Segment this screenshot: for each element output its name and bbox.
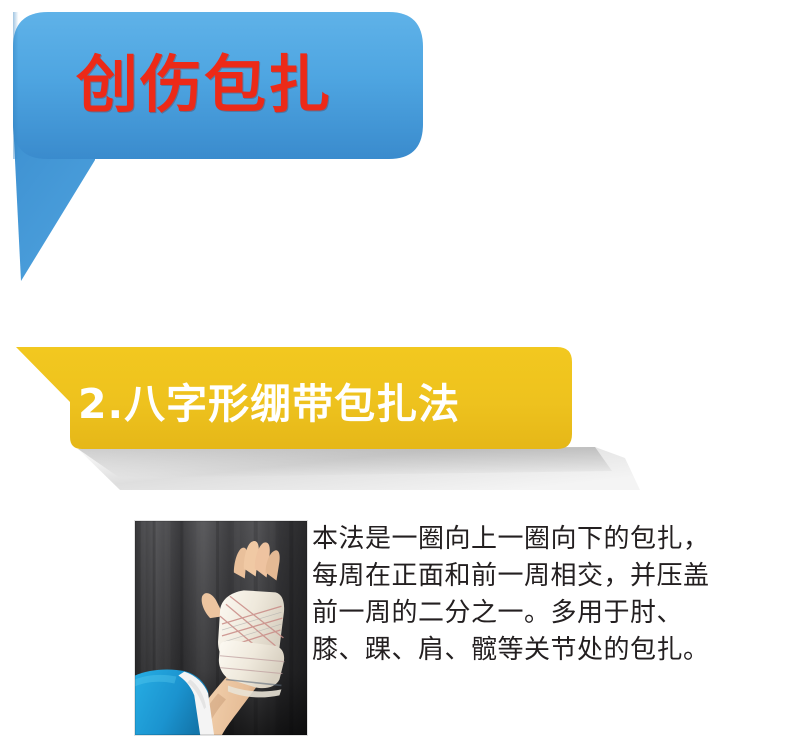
description-line-1: 本法是一圈向上一圈向下的包扎， bbox=[312, 521, 792, 558]
description-line-3: 前一周的二分之一。多用于肘、 bbox=[312, 595, 792, 632]
description-line-4: 膝、踝、肩、髋等关节处的包扎。 bbox=[312, 632, 792, 669]
section-title: 2.八字形绷带包扎法 bbox=[78, 366, 578, 442]
page-title: 创伤包扎 bbox=[76, 35, 406, 135]
section-banner: 2.八字形绷带包扎法 bbox=[0, 330, 640, 490]
description-text: 本法是一圈向上一圈向下的包扎， 每周在正面和前一周相交，并压盖 前一周的二分之一… bbox=[312, 521, 792, 669]
bubble-left-shade bbox=[13, 12, 43, 159]
bandage-photo bbox=[134, 520, 308, 736]
banner-drop-shadow bbox=[78, 447, 640, 490]
bandage-photo-image bbox=[135, 521, 307, 735]
description-line-2: 每周在正面和前一周相交，并压盖 bbox=[312, 558, 792, 595]
header-speech-bubble: 创伤包扎 bbox=[0, 0, 440, 300]
